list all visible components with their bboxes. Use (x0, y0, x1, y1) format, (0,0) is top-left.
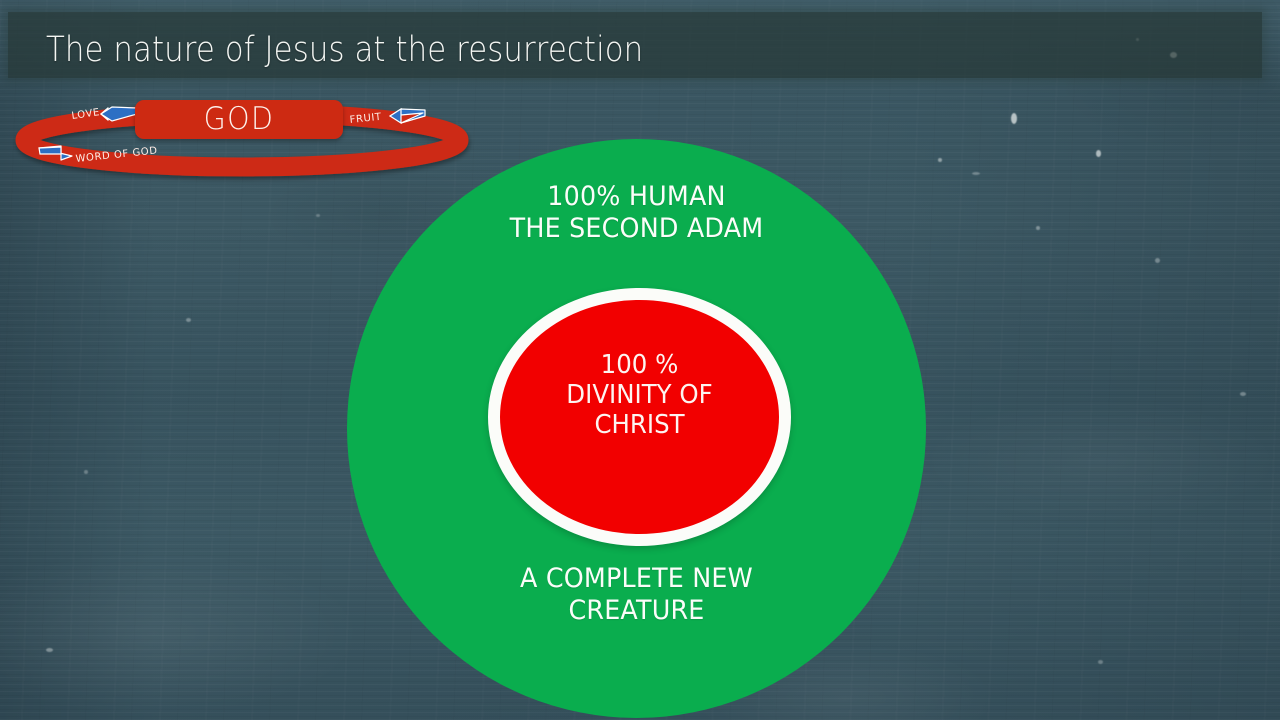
outer-top-line-2: THE SECOND ADAM (364, 213, 908, 245)
paint-speck (84, 470, 88, 474)
paint-speck (972, 172, 980, 175)
paint-speck (316, 214, 320, 217)
paint-speck (186, 318, 191, 322)
outer-bottom-line-2: CREATURE (364, 595, 908, 627)
paint-speck (938, 158, 942, 162)
paint-speck (1096, 150, 1101, 157)
inner-line-2: DIVINITY OF (497, 380, 782, 410)
paint-speck (1098, 660, 1103, 664)
paint-speck (1036, 226, 1040, 230)
inner-line-3: CHRIST (497, 410, 782, 440)
paint-speck (1011, 113, 1017, 124)
outer-circle-bottom-text: A COMPLETE NEW CREATURE (364, 563, 908, 626)
outer-top-line-1: 100% HUMAN (364, 181, 908, 213)
slide-canvas: The nature of Jesus at the resurrection (0, 0, 1280, 720)
outer-circle-top-text: 100% HUMAN THE SECOND ADAM (364, 181, 908, 244)
inner-ellipse-text: 100 % DIVINITY OF CHRIST (497, 350, 782, 440)
paint-speck (1240, 392, 1246, 396)
inner-line-1: 100 % (497, 350, 782, 380)
outer-bottom-line-1: A COMPLETE NEW (364, 563, 908, 595)
god-box: GOD (135, 100, 343, 139)
paint-speck (1155, 258, 1160, 263)
god-box-label: GOD (143, 101, 334, 137)
venn-diagram: 100% HUMAN THE SECOND ADAM 100 % DIVINIT… (347, 139, 926, 718)
title-band: The nature of Jesus at the resurrection (8, 12, 1262, 78)
page-title: The nature of Jesus at the resurrection (46, 30, 643, 70)
paint-speck (46, 648, 53, 652)
